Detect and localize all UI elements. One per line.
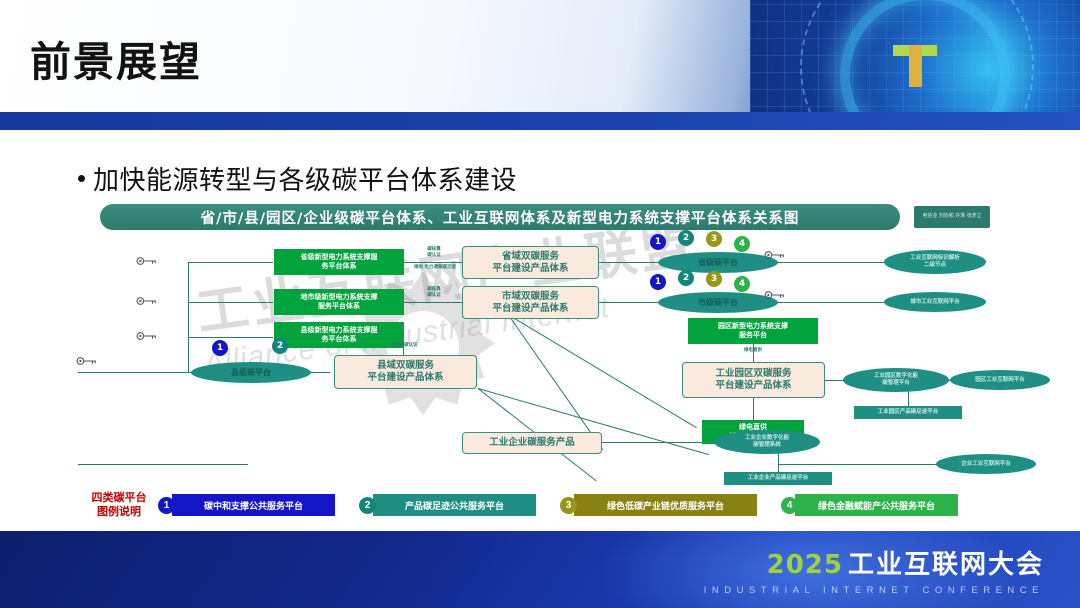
edge-label-footprint-cert: 碳足迹碳认证 [378,342,430,348]
header-accent-bar [0,112,1080,130]
edge-entenergy-to-entcarbon [596,442,716,443]
footer-year: 2025 [767,550,843,580]
edge-left-in [78,372,190,373]
node-park-power-platform[interactable]: 园区新型电力系统支撑 服务平台 [688,318,818,344]
edge-city-carbon-to-park [508,314,697,428]
legend: 四类碳平台 图例说明 1 碳中和支撑公共服务平台 2 产品碳足迹公共服务平台 3… [80,487,1000,523]
diagram-title-banner: 省/市/县/园区/企业级碳平台体系、工业互联网体系及新型电力系统支撑平台体系关系… [100,204,900,230]
edge-entiin-line [778,464,938,465]
edge-greenpower-to-parkcarbon [753,398,754,422]
legend-num-3: 3 [560,497,577,514]
badge-2[interactable]: 2 [678,270,694,286]
edge-label-green-power-supply: 绿电直供 [730,347,776,353]
badge-4[interactable]: 4 [734,276,750,292]
legend-title: 四类碳平台 图例说明 [80,491,158,520]
edge-city-power-link [188,302,273,303]
badge-2[interactable]: 2 [678,230,694,246]
node-enterprise-energy-carbon-system[interactable]: 工业企业数字化能 碳管理系统 [714,430,820,454]
legend-label-4: 绿色金融赋能产公共服务平台 [795,494,958,516]
edge-bottom-left [78,464,248,465]
node-prov-power-platform[interactable]: 省级新型电力系统支撑服 务平台体系 [274,249,404,275]
edge-prov-carbon-to-plat [598,262,658,263]
legend-num-1: 1 [158,497,175,514]
badge-3[interactable]: 3 [706,271,722,287]
bullet-dot-icon [78,175,85,182]
node-county-carbon-products[interactable]: 县域双碳服务 平台建设产品体系 [334,355,477,389]
conference-logo: 2025 工业互联网大会 INDUSTRIAL INTERNET CONFERE… [704,544,1044,596]
edge-city-carbon-to-ent [508,314,604,450]
key-icon [76,354,98,366]
node-iin-identification-node[interactable]: 工业互联网标识解析 二级节点 [884,250,986,274]
edge-county-power-link [188,337,273,338]
legend-item-3[interactable]: 3 绿色低碳产业链优质服务平台 [560,494,757,516]
slide-header-banner: 前景展望 [0,0,1080,130]
footer-banner: 2025 工业互联网大会 INDUSTRIAL INTERNET CONFERE… [0,531,1080,608]
diagram-author-note: 电信业 刘协和 许准 张彦立 [914,206,990,228]
edge-label-carbon-accounting-2: 碳核算 碳认证 [408,286,460,298]
badge-4[interactable]: 4 [734,236,750,252]
legend-item-2[interactable]: 2 产品碳足迹公共服务平台 [359,494,536,516]
bullet-heading: 加快能源转型与各级碳平台体系建设 [78,160,517,197]
node-park-carbon-products[interactable]: 工业园区双碳服务 平台建设产品体系 [682,362,825,398]
node-province-carbon-platform[interactable]: 省级碳平台 [658,252,778,273]
relationship-diagram: 工业互联网产业联盟 Alliance of Industrial Interne… [78,202,1003,532]
edge-left-spine [188,262,189,372]
key-icon [136,254,158,266]
footer-title-en: INDUSTRIAL INTERNET CONFERENCE [704,585,1044,596]
node-province-carbon-products[interactable]: 省域双碳服务 平台建设产品体系 [462,246,599,279]
legend-item-1[interactable]: 1 碳中和支撑公共服务平台 [158,494,335,516]
legend-num-2: 2 [359,497,376,514]
key-icon [764,288,786,300]
tech-orb-graphic [750,0,1080,130]
t-logo-icon [893,41,937,89]
edge-label-carbon-accounting-1: 碳核算 碳认证 [408,246,460,258]
badge-3[interactable]: 3 [706,231,722,247]
node-county-carbon-platform[interactable]: 县级碳平台 [191,362,311,383]
node-city-iin-platform[interactable]: 城市工业互联网平台 [884,292,986,312]
node-enterprise-product-footprint-platform[interactable]: 工业企业产品碳足迹平台 [724,472,832,485]
edge-prov-to-carbon [403,262,463,263]
node-enterprise-iin-platform[interactable]: 企业工业互联网平台 [936,454,1036,474]
node-city-carbon-products[interactable]: 市域双碳服务 平台建设产品体系 [462,286,599,319]
badge-1[interactable]: 1 [212,340,228,356]
legend-label-1: 碳中和支撑公共服务平台 [172,494,335,516]
node-park-iin-platform[interactable]: 园区工业互联网平台 [950,370,1050,390]
node-enterprise-carbon-products[interactable]: 工业企业碳服务产品 [462,432,602,454]
key-icon [136,294,158,306]
legend-label-2: 产品碳足迹公共服务平台 [373,494,536,516]
badge-1[interactable]: 1 [650,234,666,250]
edge-city-carbon-to-plat [598,302,658,303]
legend-label-3: 绿色低碳产业链优质服务平台 [574,494,757,516]
edge-city-plat-to-iin [776,302,884,303]
edge-prov-plat-to-iin [776,262,884,263]
legend-item-4[interactable]: 4 绿色金融赋能产公共服务平台 [781,494,958,516]
node-city-carbon-platform[interactable]: 市级碳平台 [658,292,778,313]
bullet-heading-label: 加快能源转型与各级碳平台体系建设 [93,160,517,197]
edge-label-green-power-footprint: 绿电 电力调频碳足迹 [406,264,464,270]
footer-title-cn: 工业互联网大会 [848,544,1044,581]
page-title: 前景展望 [30,28,202,88]
node-park-energy-carbon-platform[interactable]: 工业园区数字化能 碳管理平台 [843,368,949,392]
node-city-power-platform[interactable]: 地市级新型电力系统支撑 服务平台体系 [274,289,404,315]
edge-city-to-carbon [403,302,463,303]
badge-1[interactable]: 1 [650,274,666,290]
badge-2[interactable]: 2 [272,338,288,354]
legend-num-4: 4 [781,497,798,514]
key-icon [136,329,158,341]
edge-prov-power-link [188,262,273,263]
key-icon [764,248,786,260]
node-park-product-footprint-platform[interactable]: 工业园区产品碳足迹平台 [854,406,962,419]
